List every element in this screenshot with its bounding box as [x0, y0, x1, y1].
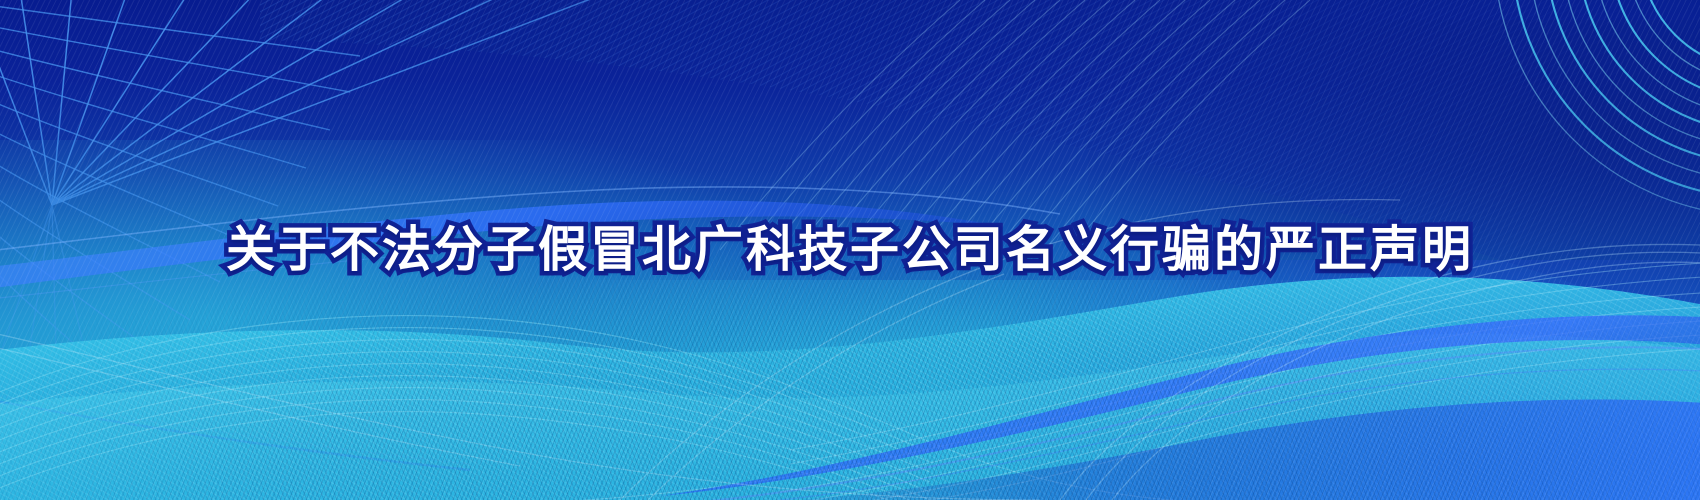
wave-mesh-texture [0, 210, 1700, 500]
announcement-banner: 关于不法分子假冒北广科技子公司名义行骗的严正声明 [0, 0, 1700, 500]
